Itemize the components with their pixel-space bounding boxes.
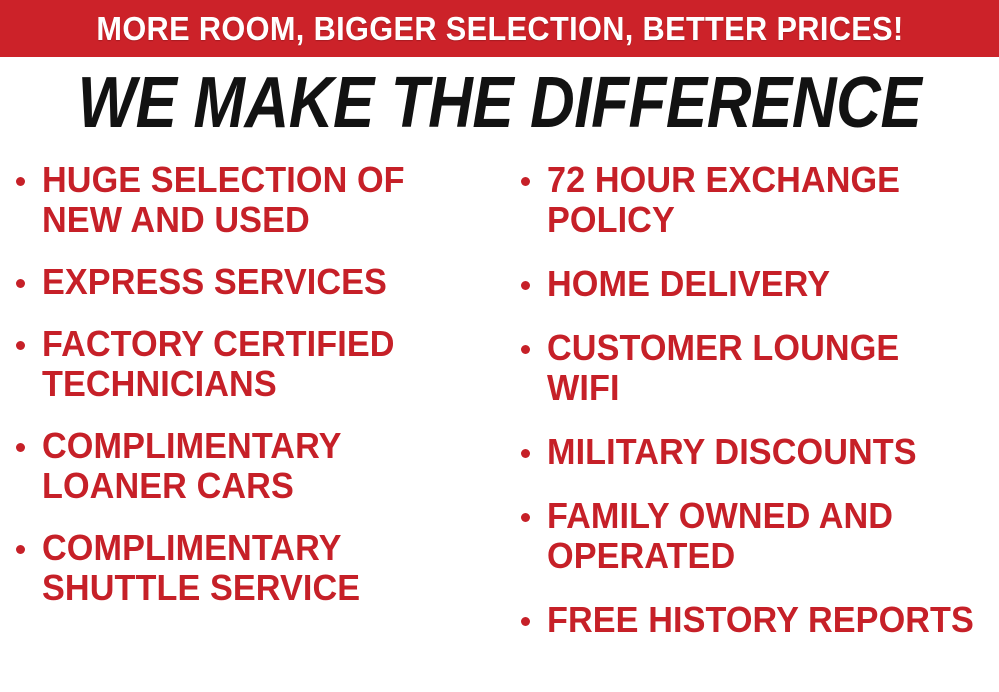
benefit-label: FREE HISTORY REPORTS [547,600,974,640]
benefit-item: COMPLIMENTARY LOANER CARS [16,426,505,506]
benefit-item: MILITARY DISCOUNTS [521,432,999,472]
benefit-item: CUSTOMER LOUNGE WIFI [521,328,999,408]
bullet-dot-icon [521,177,530,186]
benefit-item: COMPLIMENTARY SHUTTLE SERVICE [16,528,505,608]
benefit-label: COMPLIMENTARY SHUTTLE SERVICE [42,528,482,608]
bullet-dot-icon [521,513,530,522]
benefit-item: HUGE SELECTION OF NEW AND USED [16,160,505,240]
benefit-label: FAMILY OWNED AND OPERATED [547,496,976,576]
benefit-label: HOME DELIVERY [547,264,830,304]
benefit-item: 72 HOUR EXCHANGE POLICY [521,160,999,240]
benefit-label: COMPLIMENTARY LOANER CARS [42,426,482,506]
bullet-dot-icon [521,449,530,458]
benefit-label: MILITARY DISCOUNTS [547,432,917,472]
benefits-columns: HUGE SELECTION OF NEW AND USED EXPRESS S… [0,160,999,692]
main-headline: WE MAKE THE DIFFERENCE [78,67,922,139]
benefit-label: HUGE SELECTION OF NEW AND USED [42,160,482,240]
bullet-dot-icon [16,545,25,554]
bullet-dot-icon [521,617,530,626]
bullet-dot-icon [16,279,25,288]
promotional-poster: MORE ROOM, BIGGER SELECTION, BETTER PRIC… [0,0,999,692]
benefit-item: EXPRESS SERVICES [16,262,505,302]
benefit-item: FACTORY CERTIFIED TECHNICIANS [16,324,505,404]
bullet-dot-icon [16,341,25,350]
bullet-dot-icon [521,281,530,290]
benefits-column-right: 72 HOUR EXCHANGE POLICY HOME DELIVERY CU… [505,160,999,664]
benefit-item: HOME DELIVERY [521,264,999,304]
banner-headline-text: MORE ROOM, BIGGER SELECTION, BETTER PRIC… [96,12,903,45]
benefit-label: EXPRESS SERVICES [42,262,387,302]
bullet-dot-icon [16,443,25,452]
benefits-column-left: HUGE SELECTION OF NEW AND USED EXPRESS S… [0,160,505,630]
benefit-label: 72 HOUR EXCHANGE POLICY [547,160,976,240]
bullet-dot-icon [16,177,25,186]
benefit-item: FREE HISTORY REPORTS [521,600,999,640]
headline-container: WE MAKE THE DIFFERENCE [0,62,999,144]
bullet-dot-icon [521,345,530,354]
benefit-item: FAMILY OWNED AND OPERATED [521,496,999,576]
benefit-label: CUSTOMER LOUNGE WIFI [547,328,976,408]
benefit-label: FACTORY CERTIFIED TECHNICIANS [42,324,482,404]
top-banner: MORE ROOM, BIGGER SELECTION, BETTER PRIC… [0,0,999,57]
